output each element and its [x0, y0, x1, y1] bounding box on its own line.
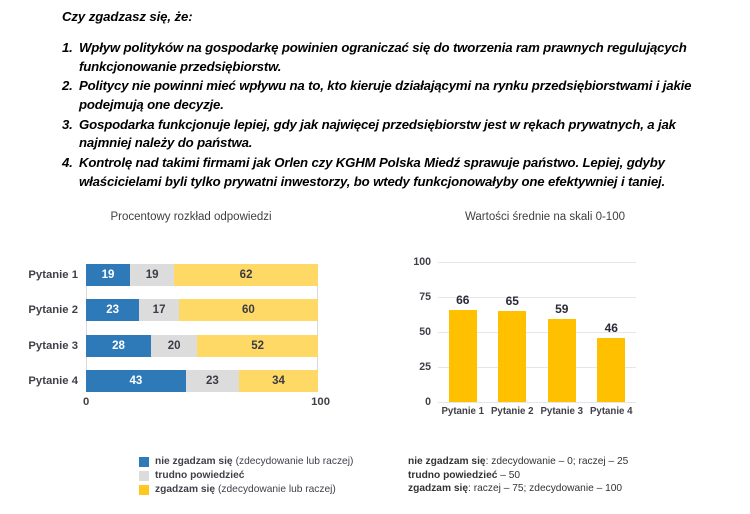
- stacked-bar-segment[interactable]: 19: [130, 264, 174, 286]
- column-bar[interactable]: [597, 338, 625, 402]
- legend-label-strong: nie zgadzam się: [155, 456, 233, 468]
- scale-note-rest: : raczej – 75; zdecydowanie – 100: [468, 483, 622, 494]
- column-chart-x-labels: Pytanie 1Pytanie 2Pytanie 3Pytanie 4: [438, 406, 636, 417]
- list-item-text: Wpływ polityków na gospodarkę powinien o…: [79, 39, 722, 76]
- y-tick-label: 50: [419, 326, 431, 338]
- question-list: 1. Wpływ polityków na gospodarkę powinie…: [62, 39, 722, 192]
- stacked-bar-segment[interactable]: 34: [239, 370, 318, 392]
- legend-swatch-blue-icon: [139, 457, 149, 467]
- column-bar[interactable]: [548, 319, 576, 402]
- list-item-number: 4.: [62, 154, 79, 173]
- legend-swatch-yellow-icon: [139, 485, 149, 495]
- question-block: Czy zgadzasz się, że: 1. Wpływ polityków…: [62, 8, 722, 193]
- legend-swatch-gray-icon: [139, 471, 149, 481]
- legend-label-strong: trudno powiedzieć: [155, 470, 244, 482]
- stacked-bar-segment[interactable]: 23: [186, 370, 239, 392]
- column-bar-wrapper: 65: [498, 262, 526, 402]
- legend-item[interactable]: trudno powiedzieć: [139, 470, 389, 482]
- column-value-label: 46: [605, 321, 618, 335]
- left-chart-title: Procentowy rozkład odpowiedzi: [6, 211, 376, 223]
- left-chart-legend: nie zgadzam się (zdecydowanie lub raczej…: [139, 456, 389, 498]
- stacked-bar-segment[interactable]: 23: [86, 299, 139, 321]
- column-value-label: 66: [456, 293, 469, 307]
- column-bar-wrapper: 59: [548, 262, 576, 402]
- scale-note-rest: – 50: [497, 470, 520, 481]
- list-item: 4. Kontrolę nad takimi firmami jak Orlen…: [62, 154, 722, 191]
- stacked-bar-row: Pytanie 2231760: [86, 299, 318, 321]
- x-axis-label: Pytanie 3: [537, 406, 587, 417]
- question-heading: Czy zgadzasz się, że:: [62, 8, 722, 26]
- category-label: Pytanie 2: [4, 299, 78, 321]
- scale-note: zgadzam się: raczej – 75; zdecydowanie –…: [408, 483, 738, 496]
- stacked-bar-segment[interactable]: 62: [174, 264, 318, 286]
- stacked-bar-segment[interactable]: 52: [197, 335, 318, 357]
- scale-note-strong: zgadzam się: [408, 483, 468, 494]
- stacked-bar-segment[interactable]: 20: [151, 335, 197, 357]
- category-label: Pytanie 1: [4, 264, 78, 286]
- stacked-bar-x-axis: 0 100: [86, 396, 318, 412]
- category-label: Pytanie 4: [4, 370, 78, 392]
- right-chart-scale-notes: nie zgadzam się: zdecydowanie – 0; racze…: [408, 456, 738, 497]
- legend-item[interactable]: zgadzam się (zdecydowanie lub raczej): [139, 484, 389, 496]
- stacked-bar-segment[interactable]: 60: [179, 299, 318, 321]
- stacked-bar-row: Pytanie 3282052: [86, 335, 318, 357]
- legend-label-strong: zgadzam się: [155, 484, 215, 496]
- x-axis-label: Pytanie 4: [587, 406, 637, 417]
- column-chart-panel: Wartości średnie na skali 0-100 02550751…: [400, 200, 750, 514]
- x-axis-label: Pytanie 2: [488, 406, 538, 417]
- charts-row: Procentowy rozkład odpowiedzi Pytanie 11…: [0, 200, 750, 514]
- y-tick-label: 25: [419, 361, 431, 373]
- scale-note: nie zgadzam się: zdecydowanie – 0; racze…: [408, 456, 738, 469]
- category-label: Pytanie 3: [4, 335, 78, 357]
- stacked-bar-segment[interactable]: 17: [139, 299, 178, 321]
- legend-label-rest: (zdecydowanie lub raczej): [218, 484, 336, 496]
- list-item-number: 3.: [62, 116, 79, 135]
- stacked-bar-segment[interactable]: 28: [86, 335, 151, 357]
- column-bar[interactable]: [449, 310, 477, 402]
- column-bar[interactable]: [498, 311, 526, 402]
- list-item-number: 1.: [62, 39, 79, 58]
- x-tick-min: 0: [83, 396, 89, 408]
- list-item-number: 2.: [62, 77, 79, 96]
- list-item: 1. Wpływ polityków na gospodarkę powinie…: [62, 39, 722, 76]
- column-bar-wrapper: 46: [597, 262, 625, 402]
- list-item: 2. Politycy nie powinni mieć wpływu na t…: [62, 77, 722, 114]
- gridline: [438, 402, 636, 403]
- legend-item[interactable]: nie zgadzam się (zdecydowanie lub raczej…: [139, 456, 389, 468]
- column-bar-wrapper: 66: [449, 262, 477, 402]
- column-plot-area: 025507510066655946: [438, 262, 636, 402]
- right-chart-title: Wartości średnie na skali 0-100: [400, 211, 690, 223]
- legend-label-rest: (zdecydowanie lub raczej): [236, 456, 354, 468]
- scale-note: trudno powiedzieć – 50: [408, 470, 738, 483]
- stacked-bar-row: Pytanie 4432334: [86, 370, 318, 392]
- stacked-bar-plot-area: Pytanie 1191962Pytanie 2231760Pytanie 32…: [86, 264, 318, 392]
- y-tick-label: 0: [425, 396, 431, 408]
- x-axis-label: Pytanie 1: [438, 406, 488, 417]
- list-item-text: Politycy nie powinni mieć wpływu na to, …: [79, 77, 722, 114]
- column-series: 66655946: [438, 262, 636, 402]
- list-item-text: Kontrolę nad takimi firmami jak Orlen cz…: [79, 154, 722, 191]
- scale-note-strong: trudno powiedzieć: [408, 470, 497, 481]
- column-value-label: 59: [555, 302, 568, 316]
- stacked-bar-segment[interactable]: 43: [86, 370, 186, 392]
- list-item: 3. Gospodarka funkcjonuje lepiej, gdy ja…: [62, 116, 722, 153]
- scale-note-strong: nie zgadzam się: [408, 456, 486, 467]
- column-value-label: 65: [506, 294, 519, 308]
- y-tick-label: 100: [413, 256, 431, 268]
- x-tick-max: 100: [311, 396, 330, 408]
- list-item-text: Gospodarka funkcjonuje lepiej, gdy jak n…: [79, 116, 722, 153]
- stacked-bar-row: Pytanie 1191962: [86, 264, 318, 286]
- scale-note-rest: : zdecydowanie – 0; raczej – 25: [486, 456, 629, 467]
- stacked-bar-chart-panel: Procentowy rozkład odpowiedzi Pytanie 11…: [6, 200, 390, 514]
- stacked-bar-segment[interactable]: 19: [86, 264, 130, 286]
- y-tick-label: 75: [419, 291, 431, 303]
